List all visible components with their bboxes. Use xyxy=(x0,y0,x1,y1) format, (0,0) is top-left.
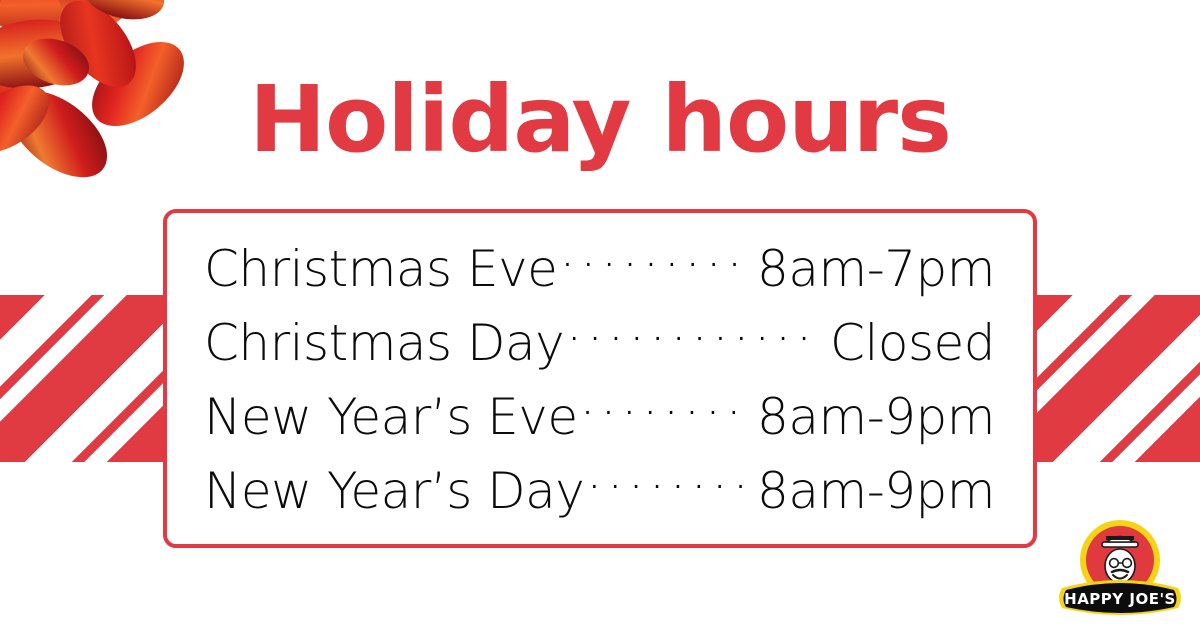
hours-row-value: 8am-7pm xyxy=(751,232,995,306)
hours-row-leader xyxy=(566,310,822,360)
hours-row-label: New Year’s Day xyxy=(204,454,584,528)
hours-row: Christmas Day Closed xyxy=(204,306,995,380)
hours-row-label: New Year’s Eve xyxy=(204,380,578,454)
gift-bow-icon xyxy=(0,0,208,204)
hours-row-leader xyxy=(580,384,749,434)
hours-row: New Year’s Day 8am-9pm xyxy=(204,454,995,528)
holiday-hours-poster: Holiday hours Christmas Eve 8am-7pm Chri… xyxy=(0,0,1200,630)
hours-row-leader xyxy=(586,458,749,508)
candy-cane-stripes-right xyxy=(1028,295,1200,462)
hours-row: Christmas Eve 8am-7pm xyxy=(204,232,995,306)
happy-joes-logo: HAPPY JOE'S xyxy=(1054,510,1186,622)
hours-row-label: Christmas Eve xyxy=(204,232,557,306)
holiday-hours-card: Christmas Eve 8am-7pm Christmas Day Clos… xyxy=(163,209,1037,548)
hours-row: New Year’s Eve 8am-9pm xyxy=(204,380,995,454)
hours-row-value: Closed xyxy=(824,306,995,380)
logo-banner: HAPPY JOE'S xyxy=(1059,580,1181,615)
hours-row-leader xyxy=(559,236,749,286)
hours-row-value: 8am-9pm xyxy=(751,380,995,454)
hours-row-label: Christmas Day xyxy=(204,306,564,380)
candy-cane-stripes-left xyxy=(0,295,172,462)
logo-brand-text: HAPPY JOE'S xyxy=(1064,590,1176,608)
hours-row-value: 8am-9pm xyxy=(751,454,995,528)
